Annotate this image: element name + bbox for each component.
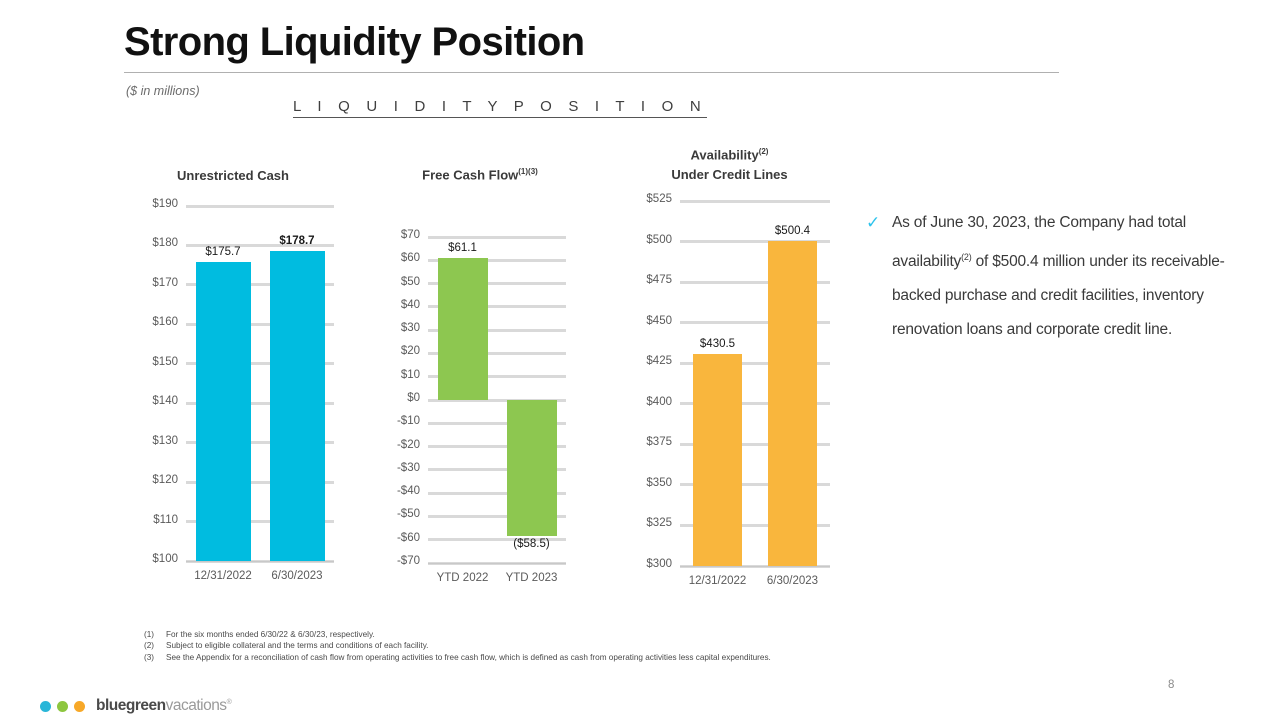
y-axis-tick-label: $10 xyxy=(380,369,420,381)
chart-title: Unrestricted Cash xyxy=(128,166,338,186)
y-axis-tick-label: $150 xyxy=(128,356,178,368)
bar xyxy=(507,400,557,536)
callout-superscript: (2) xyxy=(961,252,971,262)
footnote-text: For the six months ended 6/30/22 & 6/30/… xyxy=(166,629,771,640)
bar xyxy=(693,354,742,566)
logo-trademark: ® xyxy=(227,699,232,706)
x-axis-tick-label: 6/30/2023 xyxy=(743,575,843,587)
chart-availability-under-credit-lines: Availability(2)Under Credit Lines$525$50… xyxy=(622,142,837,592)
x-axis-line xyxy=(680,566,830,567)
footnote-item: (3)See the Appendix for a reconciliation… xyxy=(144,652,771,663)
footnote-marker: (1) xyxy=(144,629,166,640)
footnote-text: Subject to eligible collateral and the t… xyxy=(166,640,771,651)
y-axis-tick-label: -$60 xyxy=(380,532,420,544)
y-axis-tick-label: $160 xyxy=(128,316,178,328)
y-axis-tick-label: $100 xyxy=(128,553,178,565)
y-axis-tick-label: -$10 xyxy=(380,415,420,427)
footnote-marker: (3) xyxy=(144,652,166,663)
y-axis-tick-label: $40 xyxy=(380,299,420,311)
footnote-text: See the Appendix for a reconciliation of… xyxy=(166,652,771,663)
y-axis-tick-label: $400 xyxy=(622,396,672,408)
y-axis-tick-label: $475 xyxy=(622,274,672,286)
y-axis-tick-label: $140 xyxy=(128,395,178,407)
gridline xyxy=(186,205,334,208)
units-note: ($ in millions) xyxy=(126,84,200,98)
y-axis-tick-label: $425 xyxy=(622,355,672,367)
bar xyxy=(196,262,251,561)
callout-bullet: ✓ As of June 30, 2023, the Company had t… xyxy=(866,206,1262,347)
section-header: L I Q U I D I T Y P O S I T I O N xyxy=(293,98,707,118)
footnote-item: (2)Subject to eligible collateral and th… xyxy=(144,640,771,651)
bar-value-label: $61.1 xyxy=(418,242,508,254)
y-axis-tick-label: $525 xyxy=(622,193,672,205)
gridline xyxy=(428,236,566,239)
x-axis-tick-label: YTD 2023 xyxy=(482,572,582,584)
bar xyxy=(270,251,325,561)
y-axis-tick-label: $30 xyxy=(380,322,420,334)
y-axis-tick-label: -$20 xyxy=(380,439,420,451)
chart-unrestricted-cash: Unrestricted Cash$190$180$170$160$150$14… xyxy=(128,162,338,592)
y-axis-tick-label: $130 xyxy=(128,435,178,447)
chart-title-superscript: (2) xyxy=(759,147,769,156)
bar-value-label: ($58.5) xyxy=(487,538,577,550)
bar-value-label: $500.4 xyxy=(748,225,838,237)
y-axis-tick-label: $50 xyxy=(380,276,420,288)
bar xyxy=(438,258,488,400)
x-axis-tick-label: 6/30/2023 xyxy=(247,570,347,582)
logo-word-bluegreen: bluegreen xyxy=(96,697,166,714)
y-axis-tick-label: $60 xyxy=(380,252,420,264)
y-axis-tick-label: $500 xyxy=(622,234,672,246)
footnote-item: (1)For the six months ended 6/30/22 & 6/… xyxy=(144,629,771,640)
logo-word-vacations: vacations xyxy=(166,697,227,714)
x-axis-line xyxy=(186,561,334,562)
bar-value-label: $178.7 xyxy=(252,235,342,247)
y-axis-tick-label: -$30 xyxy=(380,462,420,474)
bar-value-label: $175.7 xyxy=(178,246,268,258)
title-divider xyxy=(124,72,1059,73)
y-axis-tick-label: -$70 xyxy=(380,555,420,567)
logo-wordmark: bluegreenvacations® xyxy=(96,697,231,715)
y-axis-tick-label: $170 xyxy=(128,277,178,289)
chart-title: Availability(2)Under Credit Lines xyxy=(622,142,837,185)
callout-text: As of June 30, 2023, the Company had tot… xyxy=(892,206,1262,347)
logo-dot-green xyxy=(57,701,68,712)
y-axis-tick-label: $20 xyxy=(380,345,420,357)
logo-dot-cyan xyxy=(40,701,51,712)
y-axis-tick-label: $300 xyxy=(622,558,672,570)
page-number: 8 xyxy=(1168,679,1174,691)
logo-dot-orange xyxy=(74,701,85,712)
y-axis-tick-label: $375 xyxy=(622,436,672,448)
bar xyxy=(768,241,817,566)
bluegreen-vacations-logo: bluegreenvacations® xyxy=(40,697,231,715)
check-icon: ✓ xyxy=(866,206,882,347)
y-axis-tick-label: $190 xyxy=(128,198,178,210)
y-axis-tick-label: $350 xyxy=(622,477,672,489)
y-axis-tick-label: $70 xyxy=(380,229,420,241)
y-axis-tick-label: $180 xyxy=(128,237,178,249)
y-axis-tick-label: $110 xyxy=(128,514,178,526)
y-axis-tick-label: $450 xyxy=(622,315,672,327)
chart-free-cash-flow: Free Cash Flow(1)(3)$70$60$50$40$30$20$1… xyxy=(380,162,580,592)
y-axis-tick-label: -$50 xyxy=(380,508,420,520)
bar-value-label: $430.5 xyxy=(673,338,763,350)
footnotes: (1)For the six months ended 6/30/22 & 6/… xyxy=(144,629,771,663)
y-axis-tick-label: -$40 xyxy=(380,485,420,497)
page-title: Strong Liquidity Position xyxy=(124,20,585,65)
chart-title-superscript: (1)(3) xyxy=(518,167,538,176)
y-axis-tick-label: $325 xyxy=(622,517,672,529)
y-axis-tick-label: $120 xyxy=(128,474,178,486)
footnote-marker: (2) xyxy=(144,640,166,651)
chart-title: Free Cash Flow(1)(3) xyxy=(380,162,580,185)
x-axis-line xyxy=(428,563,566,564)
y-axis-tick-label: $0 xyxy=(380,392,420,404)
gridline xyxy=(680,200,830,203)
